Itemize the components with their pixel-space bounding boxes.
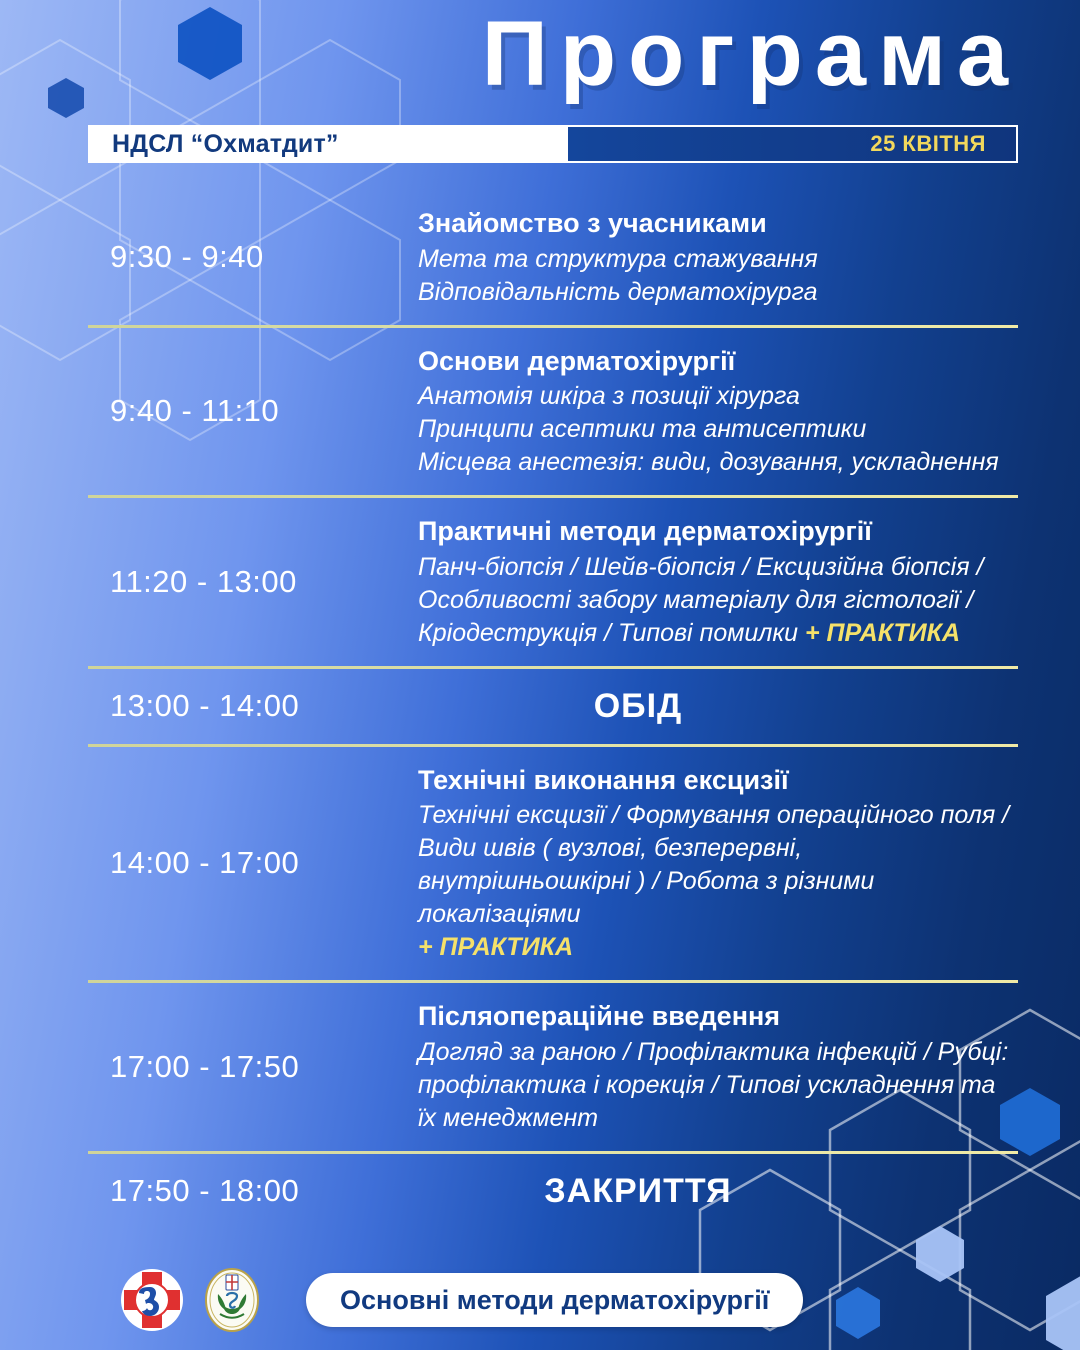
row-body: Післяопераційне введенняДогляд за раною … [418,983,1018,1151]
row-time: 9:40 - 11:10 [88,393,418,429]
schedule-row: 14:00 - 17:00Технічні виконання ексцизії… [88,744,1018,981]
schedule-row: 9:30 - 9:40Знайомство з учасникамиМета т… [88,190,1018,325]
row-title: Основи дерматохірургії [418,344,1018,379]
topic-badge: Основні методи дерматохірургії [306,1273,803,1327]
row-body: Основи дерматохірургіїАнатомія шкіра з п… [418,328,1018,496]
row-time: 13:00 - 14:00 [88,688,418,724]
okhmatdyt-cross-logo [120,1268,184,1332]
medical-university-emblem-logo [200,1268,264,1332]
schedule-row: 17:00 - 17:50Післяопераційне введенняДог… [88,980,1018,1151]
row-description: Догляд за раною / Профілактика інфекцій … [418,1036,1018,1135]
schedule-break-row: 17:50 - 18:00ЗАКРИТТЯ [88,1151,1018,1229]
practice-tag: + ПРАКТИКА [805,619,960,647]
row-title: Післяопераційне введення [418,999,1018,1034]
row-break-label: ЗАКРИТТЯ [418,1172,1018,1211]
venue-label: НДСЛ “Охматдит” [90,127,568,161]
row-time: 14:00 - 17:00 [88,845,418,881]
schedule-list: 9:30 - 9:40Знайомство з учасникамиМета т… [88,190,1018,1229]
row-title: Технічні виконання ексцизії [418,763,1018,798]
row-description: Панч-біопсія / Шейв-біопсія / Ексцизійна… [418,551,1018,650]
row-time: 9:30 - 9:40 [88,239,418,275]
poster-header: Програма НДСЛ “Охматдит” 25 КВІТНЯ [0,0,1080,180]
schedule-break-row: 13:00 - 14:00ОБІД [88,666,1018,744]
row-title: Практичні методи дерматохірургії [418,514,1018,549]
date-label: 25 КВІТНЯ [568,127,1016,161]
row-title: Знайомство з учасниками [418,206,1018,241]
row-description: Анатомія шкіра з позиції хірургаПринципи… [418,380,1018,479]
header-info-bar: НДСЛ “Охматдит” 25 КВІТНЯ [88,125,1018,163]
row-break-label: ОБІД [418,687,1018,726]
row-time: 17:50 - 18:00 [88,1173,418,1209]
poster-footer: Основні методи дерматохірургії [0,1250,1080,1350]
schedule-row: 9:40 - 11:10Основи дерматохірургіїАнатом… [88,325,1018,496]
row-body: Знайомство з учасникамиМета та структура… [418,190,1018,325]
schedule-row: 11:20 - 13:00Практичні методи дерматохір… [88,495,1018,666]
program-poster: Програма НДСЛ “Охматдит” 25 КВІТНЯ 9:30 … [0,0,1080,1350]
row-body: Практичні методи дерматохірургіїПанч-біо… [418,498,1018,666]
row-time: 11:20 - 13:00 [88,564,418,600]
row-time: 17:00 - 17:50 [88,1049,418,1085]
page-title: Програма [0,6,1020,103]
row-body: Технічні виконання ексцизіїТехнічні ексц… [418,747,1018,981]
practice-tag: + ПРАКТИКА [418,933,573,961]
row-description: Мета та структура стажуванняВідповідальн… [418,243,1018,309]
row-description: Технічні ексцизії / Формування операційн… [418,799,1018,964]
